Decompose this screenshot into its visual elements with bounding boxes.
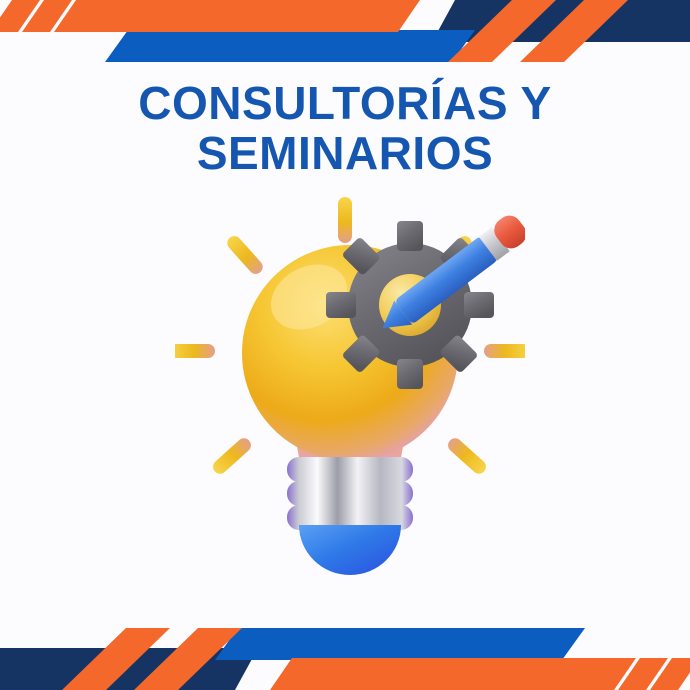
orange-band-top	[78, 0, 420, 32]
title-line-1: CONSULTORÍAS Y	[0, 78, 690, 128]
top-decorative-banner	[0, 0, 690, 70]
ray-lower-left	[210, 435, 254, 476]
bulb-screw-base	[287, 457, 413, 530]
title-line-2: SEMINARIOS	[0, 128, 690, 178]
blue-band-bottom	[215, 628, 585, 660]
bulb-cap-tip	[299, 525, 401, 575]
base-ring-1	[287, 457, 413, 482]
blue-band-top	[105, 30, 475, 62]
base-ring-2	[287, 481, 413, 506]
page-title: CONSULTORÍAS Y SEMINARIOS	[0, 78, 690, 178]
ray-top	[338, 197, 352, 243]
ray-right	[484, 344, 525, 358]
bottom-decorative-banner	[0, 620, 690, 690]
ray-lower-right	[445, 435, 489, 476]
ray-left	[175, 344, 215, 358]
orange-band-bottom	[270, 658, 612, 690]
lightbulb-gear-pencil-illustration	[175, 185, 525, 575]
poster-canvas: CONSULTORÍAS Y SEMINARIOS	[0, 0, 690, 690]
ray-upper-left	[224, 233, 265, 277]
